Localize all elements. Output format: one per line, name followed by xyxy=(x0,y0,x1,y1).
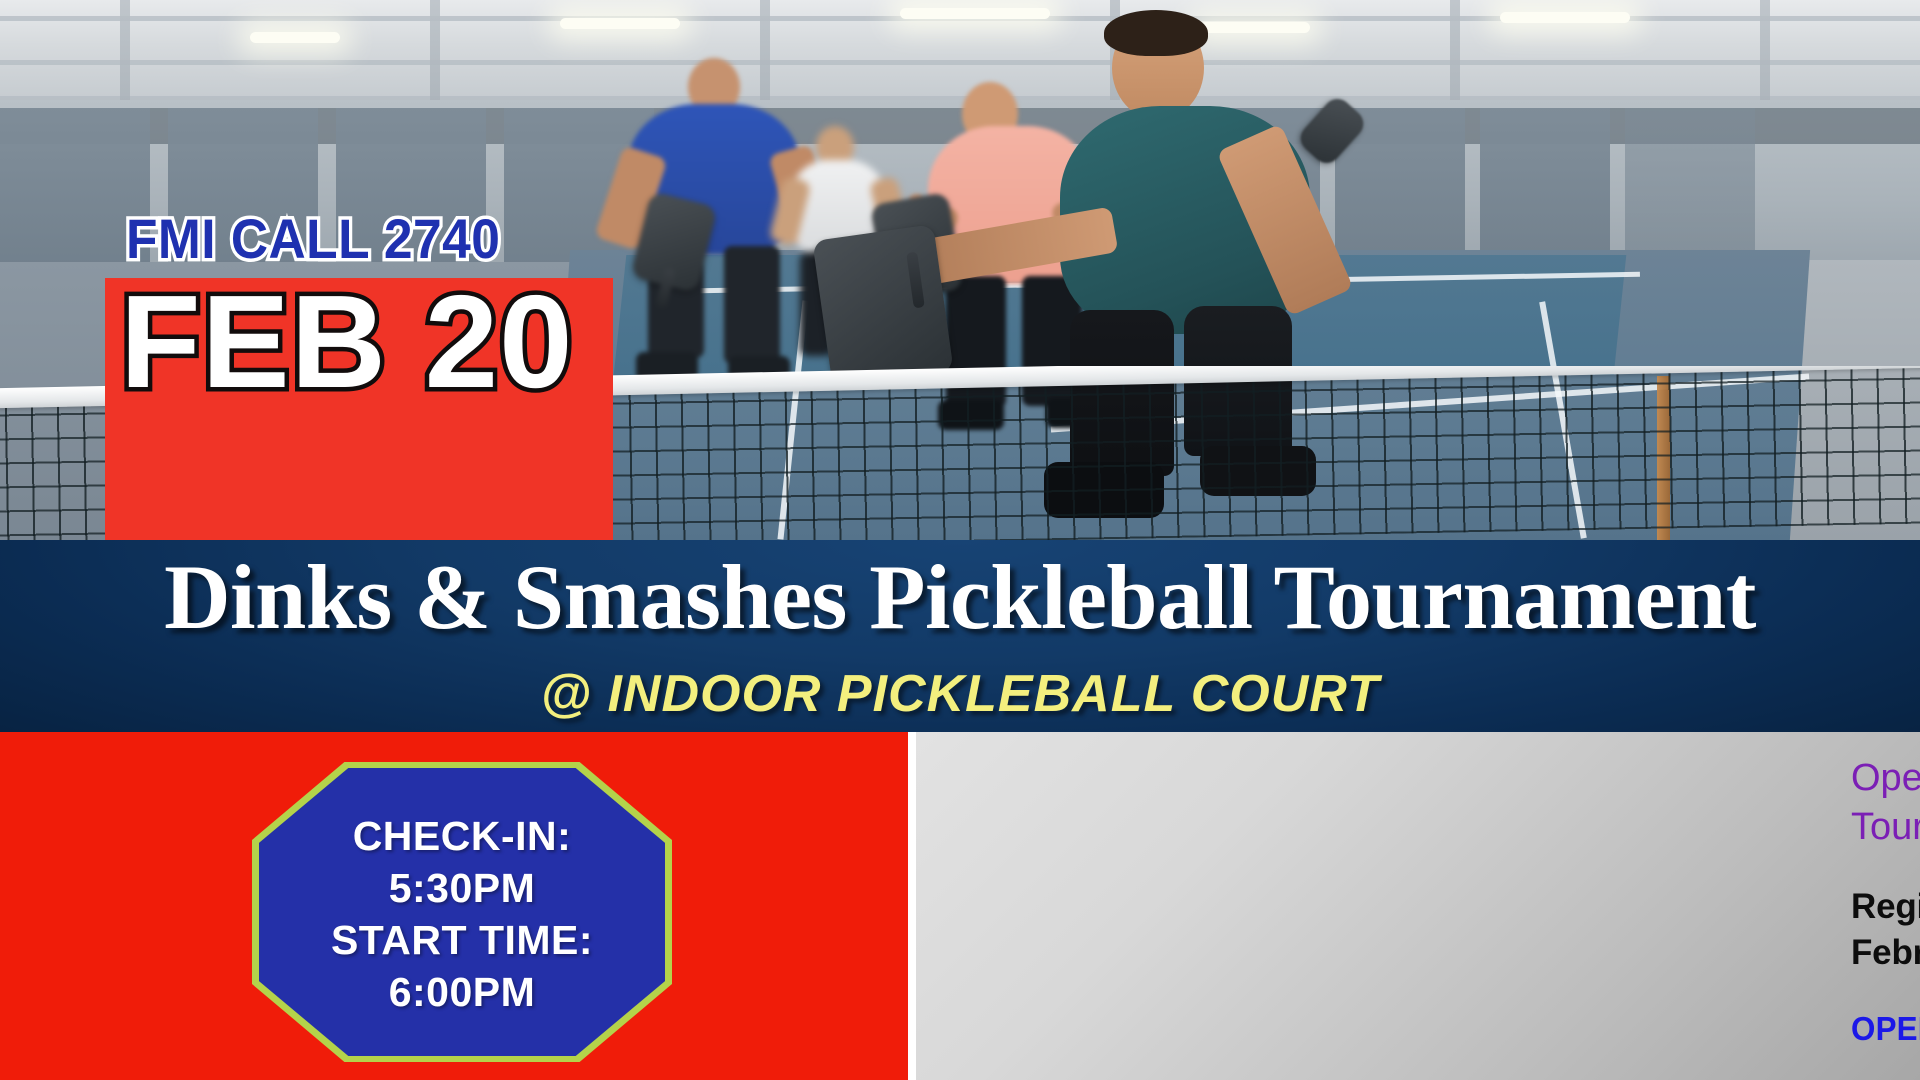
ceiling-light xyxy=(560,18,680,29)
community-notice-text: OPEN TO THE ENTIRE COMMUNITY! xyxy=(1851,1010,1920,1048)
start-time-value: 6:00PM xyxy=(389,967,536,1017)
start-time-label: START TIME: xyxy=(331,915,593,965)
hair xyxy=(1104,10,1208,56)
pickleball-tournament-flyer: FMI CALL 2740 FEB 20 Dinks & Smashes Pic… xyxy=(0,0,1920,1080)
date-badge-text: FEB 20 xyxy=(120,276,574,408)
tournament-format-text: Open Doubles, Double Elimination Tournam… xyxy=(1851,754,1920,851)
checkin-label: CHECK-IN: xyxy=(353,811,572,861)
ceiling-beam xyxy=(1760,0,1770,112)
ceiling-light xyxy=(900,8,1050,19)
pickleball-paddle-secondary xyxy=(1295,93,1369,169)
venue-subtitle: @ INDOOR PICKLEBALL COURT xyxy=(0,664,1920,724)
page-title: Dinks & Smashes Pickleball Tournament xyxy=(0,544,1920,650)
fmi-call-text: FMI CALL 2740 xyxy=(126,206,500,271)
ceiling-light xyxy=(1500,12,1630,23)
ceiling-truss xyxy=(0,60,1920,65)
registration-text: Register for FREE at the Denich Fitness … xyxy=(1851,884,1920,975)
ceiling-beam xyxy=(430,0,440,112)
details-section: CHECK-IN: 5:30PM START TIME: 6:00PM Open… xyxy=(0,732,1920,1080)
ceiling-light xyxy=(250,32,340,43)
checkin-badge: CHECK-IN: 5:30PM START TIME: 6:00PM xyxy=(252,762,672,1062)
checkin-time: 5:30PM xyxy=(389,863,536,913)
ceiling-beam xyxy=(120,0,130,112)
checkin-badge-inner: CHECK-IN: 5:30PM START TIME: 6:00PM xyxy=(259,768,665,1056)
info-panel: Open Doubles, Double Elimination Tournam… xyxy=(916,732,1920,1080)
ceiling-beam xyxy=(760,0,770,112)
pickleball-paddle xyxy=(812,224,953,388)
panel-divider xyxy=(908,732,916,1080)
checkin-panel: CHECK-IN: 5:30PM START TIME: 6:00PM xyxy=(0,732,908,1080)
